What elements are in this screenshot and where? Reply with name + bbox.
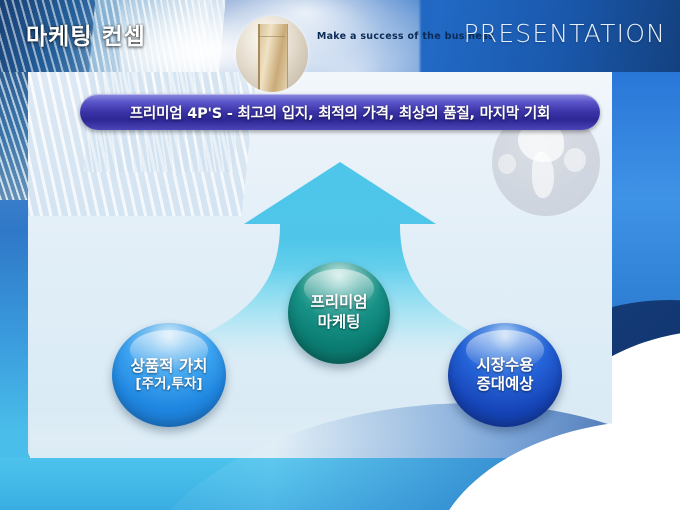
header-brand: PRESENTATION [463,19,666,48]
diagram-node-center-line2: 마케팅 [318,313,361,333]
globe-landmass-3 [564,148,586,172]
page-title: 마케팅 컨셉 [26,17,146,51]
headline-banner: 프리미엄 4P'S - 최고의 입지, 최적의 가격, 최상의 품질, 마지막 … [80,94,600,130]
building-medallion-icon [236,16,308,92]
medallion-tower [258,24,288,92]
bottom-right-white-fill [560,455,680,510]
diagram-node-center[interactable]: 프리미엄 마케팅 [288,262,390,364]
headline-text: 프리미엄 4P'S - 최고의 입지, 최적의 가격, 최상의 품질, 마지막 … [130,102,550,123]
diagram-node-left-line1: 상품적 가치 [131,357,208,376]
diagram-node-right[interactable]: 시장수용 증대예상 [448,323,562,427]
slide-canvas: 마케팅 컨셉 Make a success of the business PR… [0,0,680,510]
left-band-building-photo [0,60,30,200]
medallion-tower-line [258,36,285,37]
diagram-node-left-line2: [주거,투자] [135,376,202,392]
diagram-node-center-line1: 프리미엄 [310,293,367,313]
globe-landmass-2 [532,152,554,198]
diagram-node-left[interactable]: 상품적 가치 [주거,투자] [112,323,226,427]
diagram-node-right-line1: 시장수용 [476,356,533,375]
diagram-node-right-line2: 증대예상 [476,375,533,394]
